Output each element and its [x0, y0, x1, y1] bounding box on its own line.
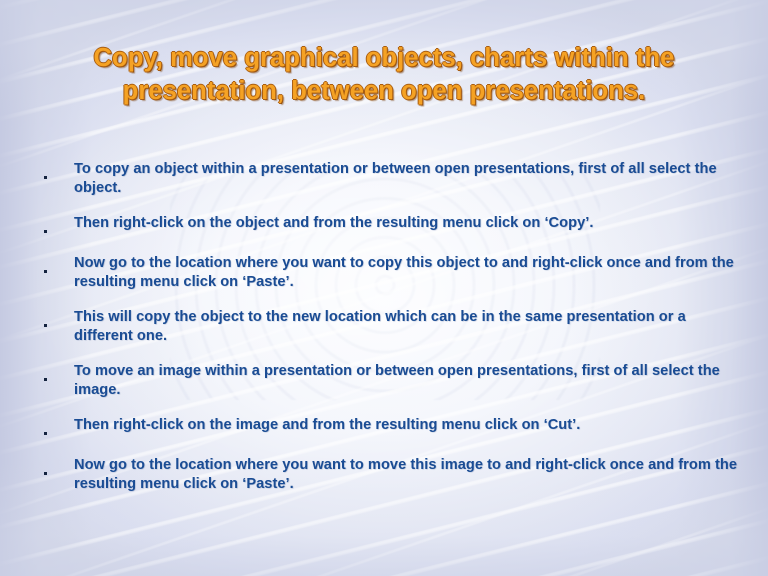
bullet-text: To copy an object within a presentation …	[74, 160, 740, 198]
list-item: Now go to the location where you want to…	[40, 254, 740, 292]
bullet-dot-icon	[40, 416, 74, 440]
bullet-dot-icon	[40, 160, 74, 184]
slide-title-line-2: presentation, between open presentations…	[48, 75, 720, 108]
bullet-text: This will copy the object to the new loc…	[74, 308, 740, 346]
list-item: To move an image within a presentation o…	[40, 362, 740, 400]
list-item: Then right-click on the object and from …	[40, 214, 740, 238]
list-item: To copy an object within a presentation …	[40, 160, 740, 198]
bullet-text: Now go to the location where you want to…	[74, 254, 740, 292]
slide-bullet-list: To copy an object within a presentation …	[40, 160, 740, 510]
bullet-text: Then right-click on the object and from …	[74, 214, 740, 233]
list-item: Then right-click on the image and from t…	[40, 416, 740, 440]
slide-title: Copy, move graphical objects, charts wit…	[48, 42, 720, 108]
bullet-dot-icon	[40, 214, 74, 238]
bullet-dot-icon	[40, 254, 74, 278]
bullet-text: Then right-click on the image and from t…	[74, 416, 740, 435]
bullet-dot-icon	[40, 456, 74, 480]
list-item: Now go to the location where you want to…	[40, 456, 740, 494]
presentation-slide: Copy, move graphical objects, charts wit…	[0, 0, 768, 576]
bullet-dot-icon	[40, 308, 74, 332]
bullet-dot-icon	[40, 362, 74, 386]
slide-title-line-1: Copy, move graphical objects, charts wit…	[48, 42, 720, 75]
bullet-text: Now go to the location where you want to…	[74, 456, 740, 494]
list-item: This will copy the object to the new loc…	[40, 308, 740, 346]
bullet-text: To move an image within a presentation o…	[74, 362, 740, 400]
